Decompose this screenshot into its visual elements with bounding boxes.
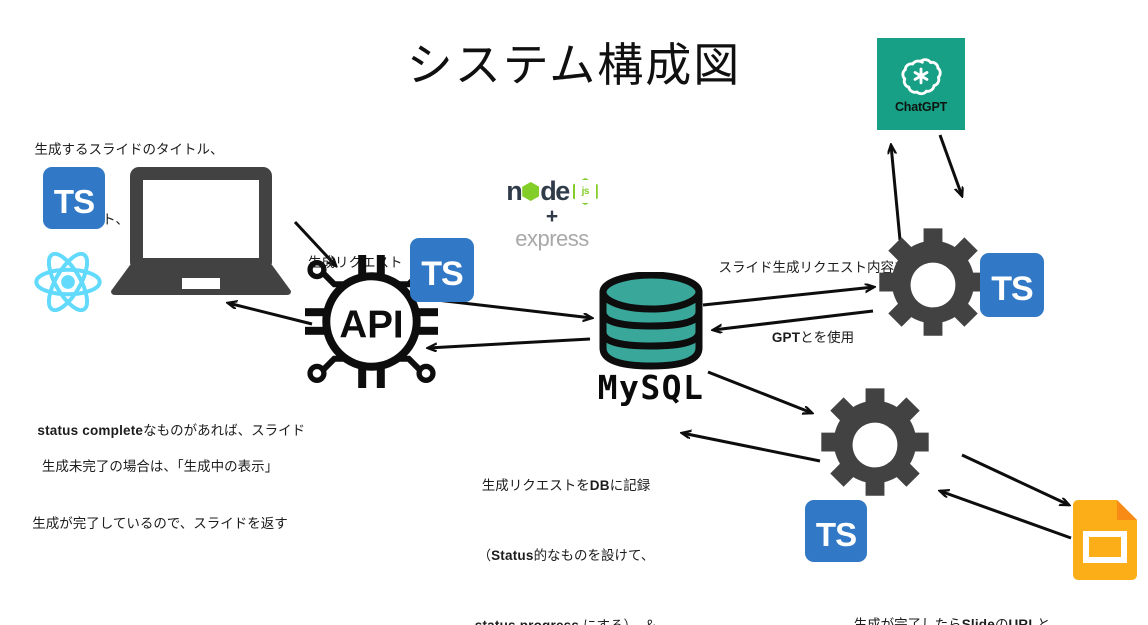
node-hex-o: [522, 182, 539, 201]
node-letter-e: e: [555, 178, 569, 205]
node-letter-d: d: [540, 178, 555, 205]
chatgpt-label: ChatGPT: [895, 100, 947, 114]
react-logo: [32, 246, 104, 318]
mysql-label: MySQL: [586, 368, 716, 407]
db-line2-b: 的なものを設けて、: [534, 548, 655, 563]
api-chip-label: API: [339, 303, 403, 346]
db-line2-bold: Status: [491, 548, 533, 563]
db-line3-bold: status progress: [475, 618, 579, 625]
chatgpt-node: ChatGPT: [877, 38, 965, 130]
gpt-usage-rest: とを使用: [800, 330, 854, 345]
db-line1-bold: DB: [590, 478, 610, 493]
node-wordmark: n d e js: [506, 178, 598, 205]
typescript-logo-slide-worker: TS: [805, 500, 867, 562]
db-line1-b: に記録: [610, 478, 651, 493]
note-status-incomplete: 生成未完了の場合は、「生成中の表示」: [12, 409, 308, 525]
slide-line1-bold1: Slide: [962, 617, 995, 625]
arrow-slides-to-slide-worker: [940, 491, 1071, 538]
db-line2-a: （: [478, 548, 492, 563]
note-db-record: 生成リクエストをDBに記録 （Status的なものを設けて、 status pr…: [448, 428, 684, 625]
note-db-record-line3: status progress にする） ＆: [448, 614, 684, 625]
arrow-slide-worker-to-mysql: [682, 433, 820, 461]
mysql-node: MySQL: [586, 272, 716, 402]
express-wordmark: express: [515, 227, 589, 251]
slide-line1-a: 生成が完了したら: [854, 617, 962, 625]
note-db-record-line1: 生成リクエストをDBに記録: [448, 474, 684, 497]
gear-icon-slide-worker: [816, 386, 934, 504]
openai-logo: [899, 54, 943, 98]
note-db-record-line2: （Status的なものを設けて、: [448, 544, 684, 567]
typescript-logo-label: TS: [816, 516, 856, 554]
gpt-usage-bold: GPT: [772, 330, 800, 345]
node-express-logo: n d e js + express: [487, 178, 617, 252]
typescript-logo-label: TS: [991, 270, 1032, 309]
arrow-api-to-client: [228, 303, 312, 324]
typescript-logo-label: TS: [421, 255, 462, 294]
page-title: システム構成図: [0, 38, 1148, 93]
arrow-slide-worker-to-slides: [962, 455, 1069, 505]
typescript-logo-client: TS: [43, 167, 105, 229]
system-architecture-diagram: システム構成図: [0, 0, 1148, 625]
nodejs-hex-badge: js: [573, 178, 598, 205]
slide-line1-bold2: URL: [1008, 617, 1036, 625]
typescript-logo-label: TS: [54, 183, 94, 221]
google-slides-icon: [1073, 500, 1137, 580]
plus-sign: +: [546, 206, 558, 227]
arrow-chatgpt-to-gpt-worker: [940, 135, 962, 196]
node-letter-n: n: [506, 178, 521, 205]
slide-line1-b: の: [995, 617, 1009, 625]
laptop-icon: [110, 165, 292, 295]
note-client-input-line1: 生成するスライドのタイトル、: [14, 138, 244, 161]
typescript-logo-api: TS: [410, 238, 474, 302]
db-line1-a: 生成リクエストを: [482, 478, 590, 493]
slide-line1-c: と: [1037, 617, 1051, 625]
note-slide-complete-line1: 生成が完了したらSlideのURLと: [828, 613, 1076, 625]
db-line3-rest: にする） ＆: [579, 618, 657, 625]
gear-icon-gpt-worker: [874, 226, 992, 344]
mysql-database-icon: [586, 272, 716, 372]
note-status-incomplete-line1: 生成未完了の場合は、「生成中の表示」: [12, 455, 308, 478]
typescript-logo-gpt-worker: TS: [980, 253, 1044, 317]
arrow-mysql-to-api: [428, 339, 590, 348]
note-slide-complete: 生成が完了したらSlideのURLと Status Completeを登録: [828, 567, 1076, 625]
